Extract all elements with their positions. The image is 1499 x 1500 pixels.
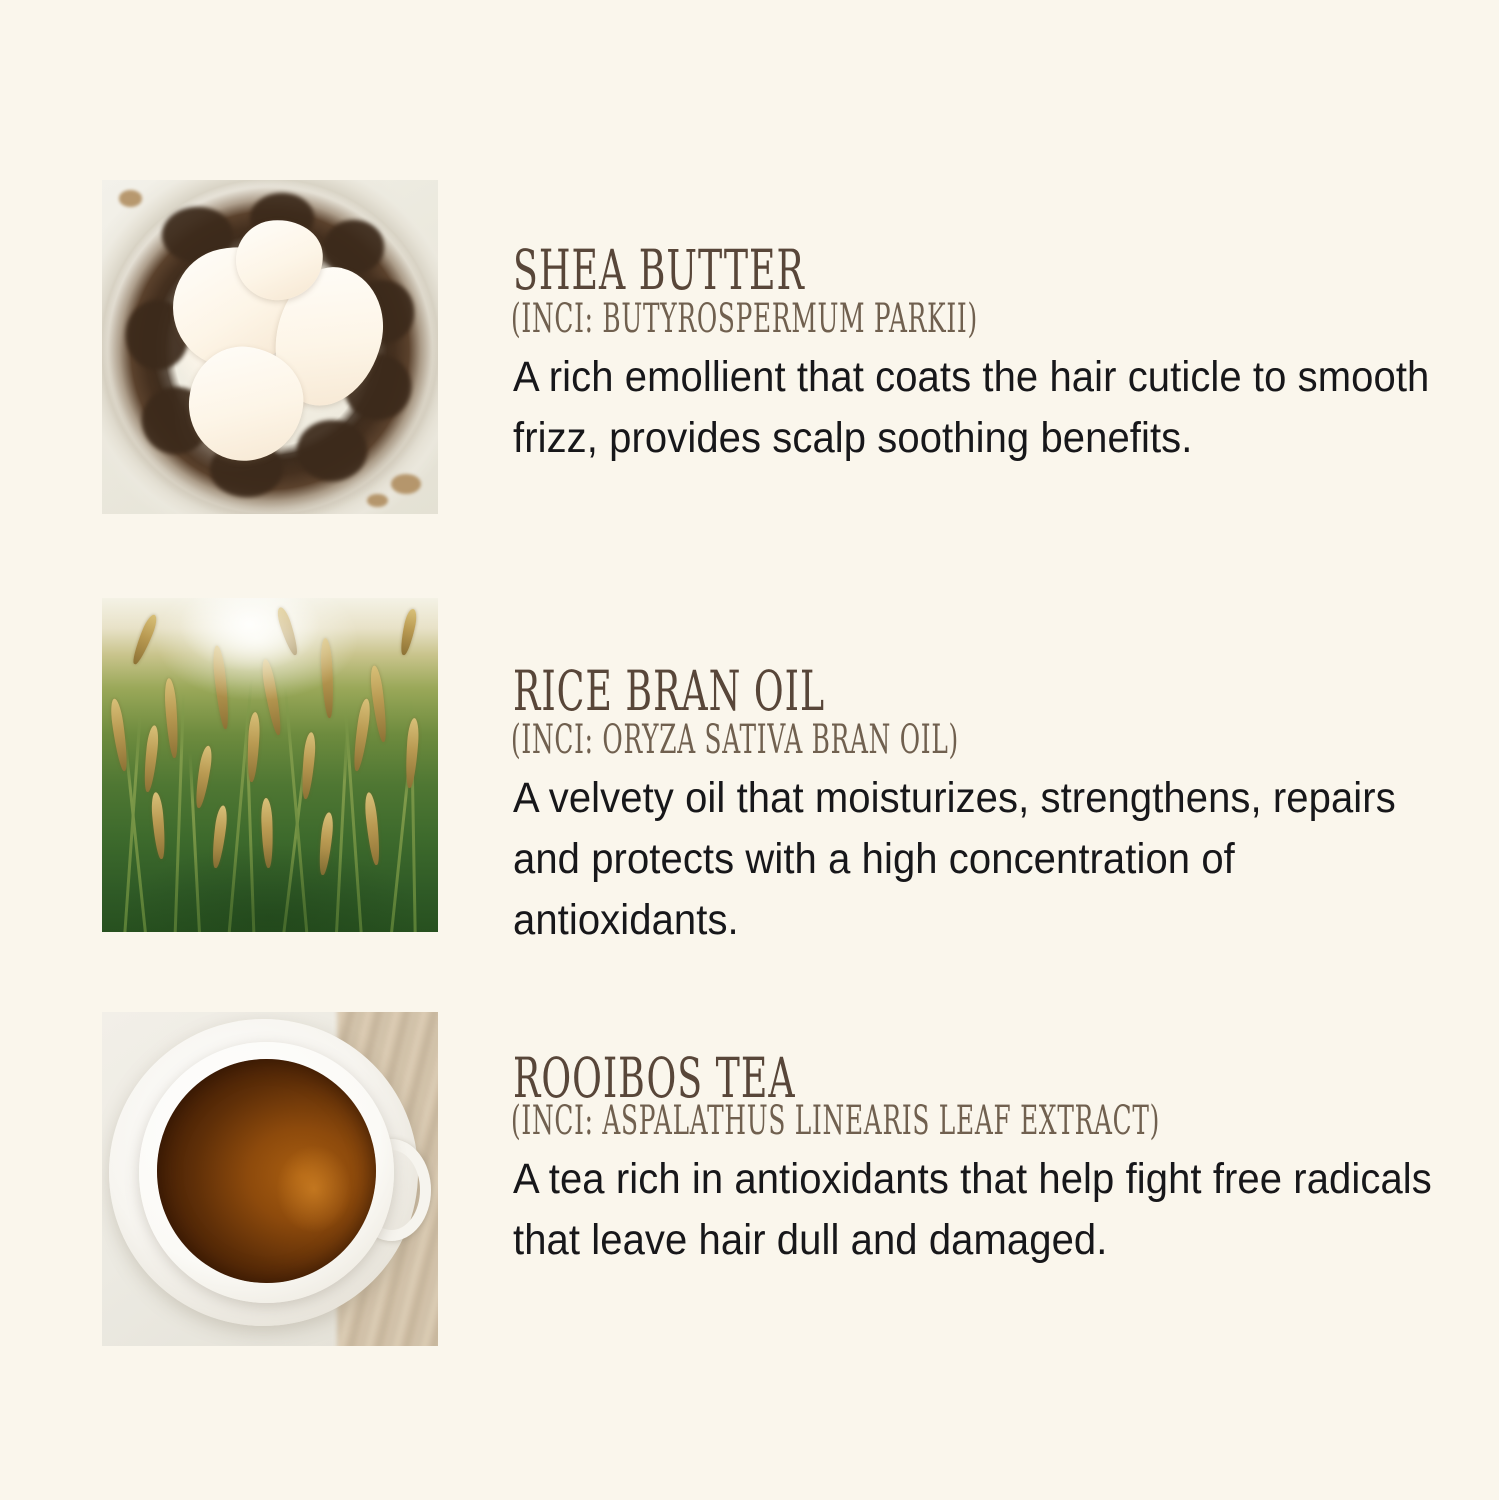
ingredient-description: A tea rich in antioxidants that help fig… xyxy=(513,1149,1438,1271)
ingredient-benefits-panel: SHEA BUTTER(INCI: BUTYROSPERMUM PARKII) … xyxy=(0,0,1499,1500)
ingredient-row-rice-bran-oil: RICE BRAN OIL(INCI: ORYZA SATIVA BRAN OI… xyxy=(0,598,1499,938)
ingredient-inci: (INCI: ORYZA SATIVA BRAN OIL) xyxy=(511,720,959,762)
shea-butter-text-block: SHEA BUTTER(INCI: BUTYROSPERMUM PARKII) … xyxy=(513,242,1443,469)
ingredient-inci-line: (INCI: ASPALATHUS LINEARIS LEAF EXTRACT) xyxy=(513,1101,1443,1143)
ingredient-description: A rich emollient that coats the hair cut… xyxy=(513,347,1438,469)
ingredient-row-rooibos-tea: ROOIBOS TEA (INCI: ASPALATHUS LINEARIS L… xyxy=(0,1012,1499,1352)
ingredient-heading-shea-butter: SHEA BUTTER(INCI: BUTYROSPERMUM PARKII) xyxy=(513,242,1443,341)
rooibos-tea-text-block: ROOIBOS TEA (INCI: ASPALATHUS LINEARIS L… xyxy=(513,1050,1443,1271)
rice-bran-oil-text-block: RICE BRAN OIL(INCI: ORYZA SATIVA BRAN OI… xyxy=(513,663,1443,951)
ingredient-row-shea-butter: SHEA BUTTER(INCI: BUTYROSPERMUM PARKII) … xyxy=(0,180,1499,520)
ingredient-inci: (INCI: BUTYROSPERMUM PARKII) xyxy=(511,299,978,341)
ingredient-name: SHEA BUTTER xyxy=(513,242,805,299)
ingredient-description: A velvety oil that moisturizes, strength… xyxy=(513,768,1438,951)
ingredient-inci: (INCI: ASPALATHUS LINEARIS LEAF EXTRACT) xyxy=(511,1101,1160,1143)
shea-butter-photo xyxy=(102,180,438,514)
rice-field-photo xyxy=(102,598,438,932)
rooibos-tea-photo xyxy=(102,1012,438,1346)
ingredient-heading-rice-bran-oil: RICE BRAN OIL(INCI: ORYZA SATIVA BRAN OI… xyxy=(513,663,1443,762)
ingredient-name: RICE BRAN OIL xyxy=(513,663,825,720)
